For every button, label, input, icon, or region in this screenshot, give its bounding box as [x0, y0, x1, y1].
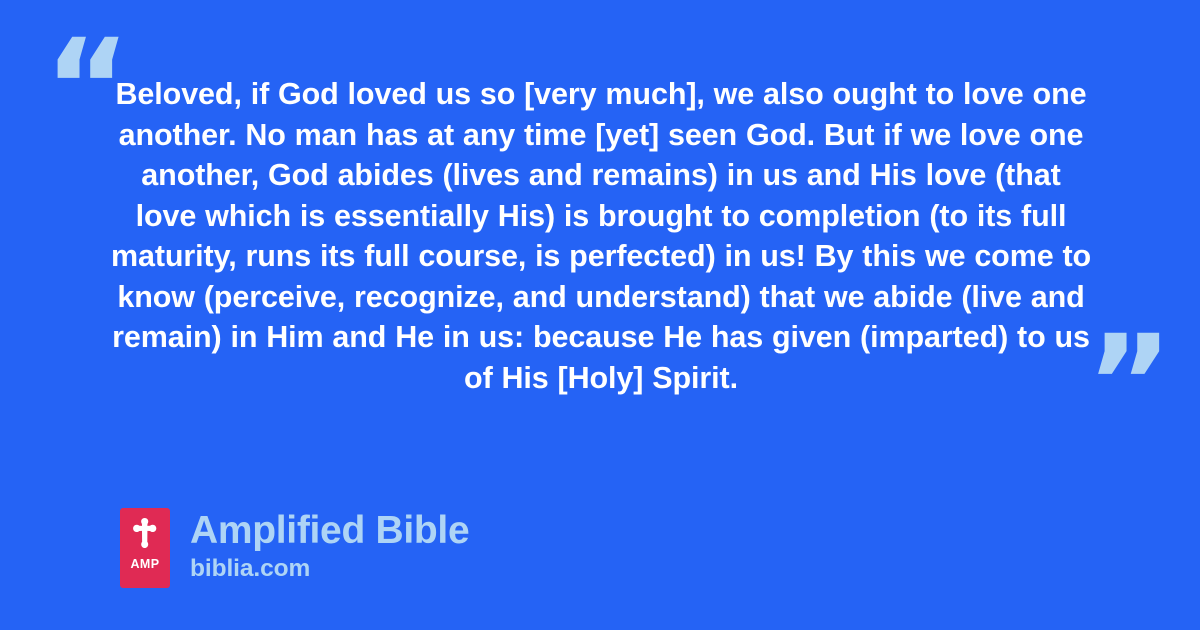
close-quote-icon: ”: [1086, 318, 1170, 450]
site-url: biblia.com: [190, 555, 469, 583]
quote-card: “ Beloved, if God loved us so [very much…: [0, 0, 1200, 630]
quote-text: Beloved, if God loved us so [very much],…: [110, 74, 1092, 398]
quote-block: Beloved, if God loved us so [very much],…: [110, 74, 1092, 398]
logo-abbreviation: AMP: [131, 558, 160, 571]
amp-logo-tile: AMP: [120, 508, 170, 588]
attribution-footer: AMP Amplified Bible biblia.com: [120, 508, 469, 588]
bible-edition-title: Amplified Bible: [190, 509, 469, 553]
cross-icon: [132, 517, 158, 551]
footer-text-group: Amplified Bible biblia.com: [190, 508, 469, 583]
